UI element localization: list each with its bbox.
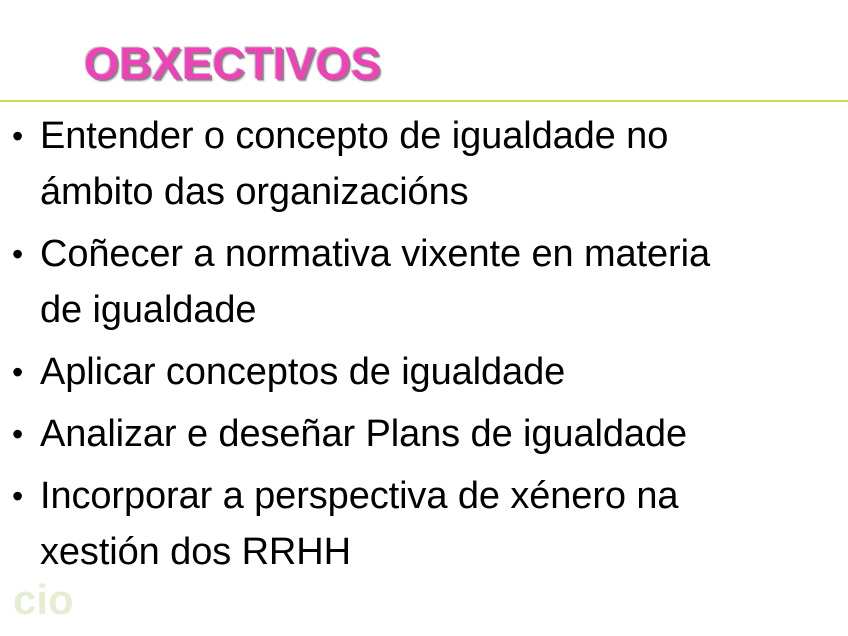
bullet-text: Aplicar conceptos de igualdade: [40, 344, 830, 400]
presentation-slide: OBXECTIVOS • Entender o concepto de igua…: [0, 0, 848, 636]
bullet-marker-icon: •: [12, 344, 34, 400]
logo-text: cio: [13, 580, 74, 622]
bullet-text: Incorporar a perspectiva de xénero na xe…: [40, 468, 830, 580]
list-item: • Entender o concepto de igualdade no ám…: [0, 108, 830, 220]
bullet-marker-icon: •: [12, 226, 34, 282]
title-divider-rule: [0, 100, 848, 102]
list-item: • Aplicar conceptos de igualdade: [0, 344, 830, 400]
bullet-marker-icon: •: [12, 108, 34, 164]
list-item: • Incorporar a perspectiva de xénero na …: [0, 468, 830, 580]
bullet-text: Analizar e deseñar Plans de igualdade: [40, 406, 830, 462]
bullet-marker-icon: •: [12, 406, 34, 462]
page-title: OBXECTIVOS: [84, 37, 381, 91]
bullet-text: Entender o concepto de igualdade no ámbi…: [40, 108, 830, 220]
slide-title-area: OBXECTIVOS: [0, 0, 848, 101]
bullet-text: Coñecer a normativa vixente en materia d…: [40, 226, 830, 338]
bullet-marker-icon: •: [12, 468, 34, 524]
list-item: • Coñecer a normativa vixente en materia…: [0, 226, 830, 338]
objectives-bullet-list: • Entender o concepto de igualdade no ám…: [0, 108, 848, 586]
list-item: • Analizar e deseñar Plans de igualdade: [0, 406, 830, 462]
footer-watermark-logo: cio: [13, 580, 99, 622]
